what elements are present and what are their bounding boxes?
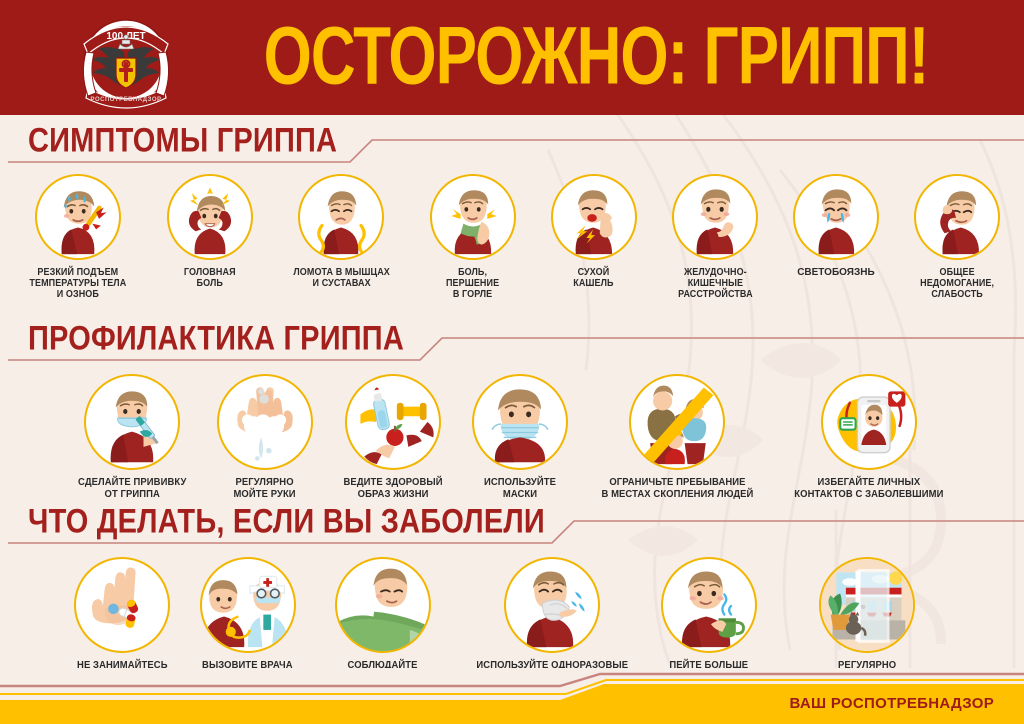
prevention-label: ВЕДИТЕ ЗДОРОВЫЙОБРАЗ ЖИЗНИ [343,477,442,501]
symptom-label: ГОЛОВНАЯБОЛЬ [184,267,236,289]
symptom-label: ОБЩЕЕНЕДОМОГАНИЕ,СЛАБОСТЬ [920,267,994,301]
symptoms-row: РЕЗКИЙ ПОДЪЕМТЕМПЕРАТУРЫ ТЕЛАИ ОЗНОБ [0,174,1024,301]
headache-icon [167,174,253,260]
symptom-label: ЖЕЛУДОЧНО-КИШЕЧНЫЕРАССТРОЙСТВА [678,267,753,301]
drink-fluids-icon [661,557,757,653]
ventilate-room-icon [819,557,915,653]
section-prevention-title: ПРОФИЛАКТИКА ГРИППА [28,320,404,359]
symptom-item[interactable]: СВЕТОБОЯЗНЬ [793,174,879,301]
symptom-item[interactable]: ЖЕЛУДОЧНО-КИШЕЧНЫЕРАССТРОЙСТВА [672,174,758,301]
symptom-label: РЕЗКИЙ ПОДЪЕМТЕМПЕРАТУРЫ ТЕЛАИ ОЗНОБ [29,267,126,301]
symptom-label: СУХОЙКАШЕЛЬ [574,267,614,289]
prevention-label: ИСПОЛЬЗУЙТЕМАСКИ [484,477,556,501]
section-prevention-header: ПРОФИЛАКТИКА ГРИППА [0,322,1024,364]
section-symptoms: СИМПТОМЫ ГРИППА [0,124,1024,301]
symptom-item[interactable]: ОБЩЕЕНЕДОМОГАНИЕ,СЛАБОСТЬ [914,174,1000,301]
stomach-upset-icon [672,174,758,260]
section-if-sick: ЧТО ДЕЛАТЬ, ЕСЛИ ВЫ ЗАБОЛЕЛИ [0,505,1024,695]
prevention-item[interactable]: ОГРАНИЧЬТЕ ПРЕБЫВАНИЕВ МЕСТАХ СКОПЛЕНИЯ … [593,374,762,501]
prevention-label: ИЗБЕГАЙТЕ ЛИЧНЫХКОНТАКТОВ С ЗАБОЛЕВШИМИ [795,477,944,501]
symptom-item[interactable]: ГОЛОВНАЯБОЛЬ [167,174,253,301]
healthy-lifestyle-icon [345,374,441,470]
no-self-medication-icon [74,557,170,653]
use-tissues-icon [504,557,600,653]
avoid-contact-online-icon [821,374,917,470]
prevention-item[interactable]: ИЗБЕГАЙТЕ ЛИЧНЫХКОНТАКТОВ С ЗАБОЛЕВШИМИ [786,374,952,501]
symptom-label: ЛОМОТА В МЫШЦАХИ СУСТАВАХ [293,267,390,289]
symptom-item[interactable]: РЕЗКИЙ ПОДЪЕМТЕМПЕРАТУРЫ ТЕЛАИ ОЗНОБ [24,174,132,301]
symptom-label: БОЛЬ,ПЕРШЕНИЕВ ГОРЛЕ [446,267,499,301]
call-doctor-icon [200,557,296,653]
fever-thermometer-icon [35,174,121,260]
svg-text:РОСПОТРЕБНАДЗОР: РОСПОТРЕБНАДЗОР [91,97,162,103]
poster-root: 100 ЛЕТ [0,0,1024,724]
header-banner: 100 ЛЕТ [0,0,1024,115]
prevention-item[interactable]: ИСПОЛЬЗУЙТЕМАСКИ [472,374,568,501]
malaise-weakness-icon [914,174,1000,260]
section-symptoms-title: СИМПТОМЫ ГРИППА [28,122,337,161]
section-if-sick-title: ЧТО ДЕЛАТЬ, ЕСЛИ ВЫ ЗАБОЛЕЛИ [28,503,545,542]
page-title-text: ОСТОРОЖНО: ГРИПП! [264,9,929,103]
photophobia-icon [793,174,879,260]
symptom-label: СВЕТОБОЯЗНЬ [797,267,874,278]
prevention-item[interactable]: СДЕЛАЙТЕ ПРИВИВКУОТ ГРИППА [72,374,192,501]
symptom-item[interactable]: СУХОЙКАШЕЛЬ [551,174,637,301]
section-prevention: ПРОФИЛАКТИКА ГРИППА [0,322,1024,501]
sore-throat-icon [430,174,516,260]
prevention-row: СДЕЛАЙТЕ ПРИВИВКУОТ ГРИППА [0,374,1024,501]
symptom-item[interactable]: БОЛЬ,ПЕРШЕНИЕВ ГОРЛЕ [430,174,516,301]
vaccination-icon [84,374,180,470]
wash-hands-icon [217,374,313,470]
footer-bar: ВАШ РОСПОТРЕБНАДЗОР [0,668,1024,724]
prevention-item[interactable]: ВЕДИТЕ ЗДОРОВЫЙОБРАЗ ЖИЗНИ [338,374,448,501]
footer-label: ВАШ РОСПОТРЕБНАДЗОР [789,695,994,712]
body-aches-icon [298,174,384,260]
section-if-sick-header: ЧТО ДЕЛАТЬ, ЕСЛИ ВЫ ЗАБОЛЕЛИ [0,505,1024,547]
prevention-label: ОГРАНИЧЬТЕ ПРЕБЫВАНИЕВ МЕСТАХ СКОПЛЕНИЯ … [601,477,753,501]
wear-mask-icon [472,374,568,470]
page-title: ОСТОРОЖНО: ГРИПП! [196,21,996,92]
rospotrebnadzor-emblem-icon: 100 ЛЕТ [72,6,180,114]
bed-rest-icon [335,557,431,653]
prevention-item[interactable]: РЕГУЛЯРНОМОЙТЕ РУКИ [217,374,313,501]
avoid-crowds-icon [629,374,725,470]
prevention-label: РЕГУЛЯРНОМОЙТЕ РУКИ [234,477,296,501]
prevention-label: СДЕЛАЙТЕ ПРИВИВКУОТ ГРИППА [78,477,186,501]
section-symptoms-header: СИМПТОМЫ ГРИППА [0,124,1024,166]
symptom-item[interactable]: ЛОМОТА В МЫШЦАХИ СУСТАВАХ [288,174,395,301]
dry-cough-icon [551,174,637,260]
